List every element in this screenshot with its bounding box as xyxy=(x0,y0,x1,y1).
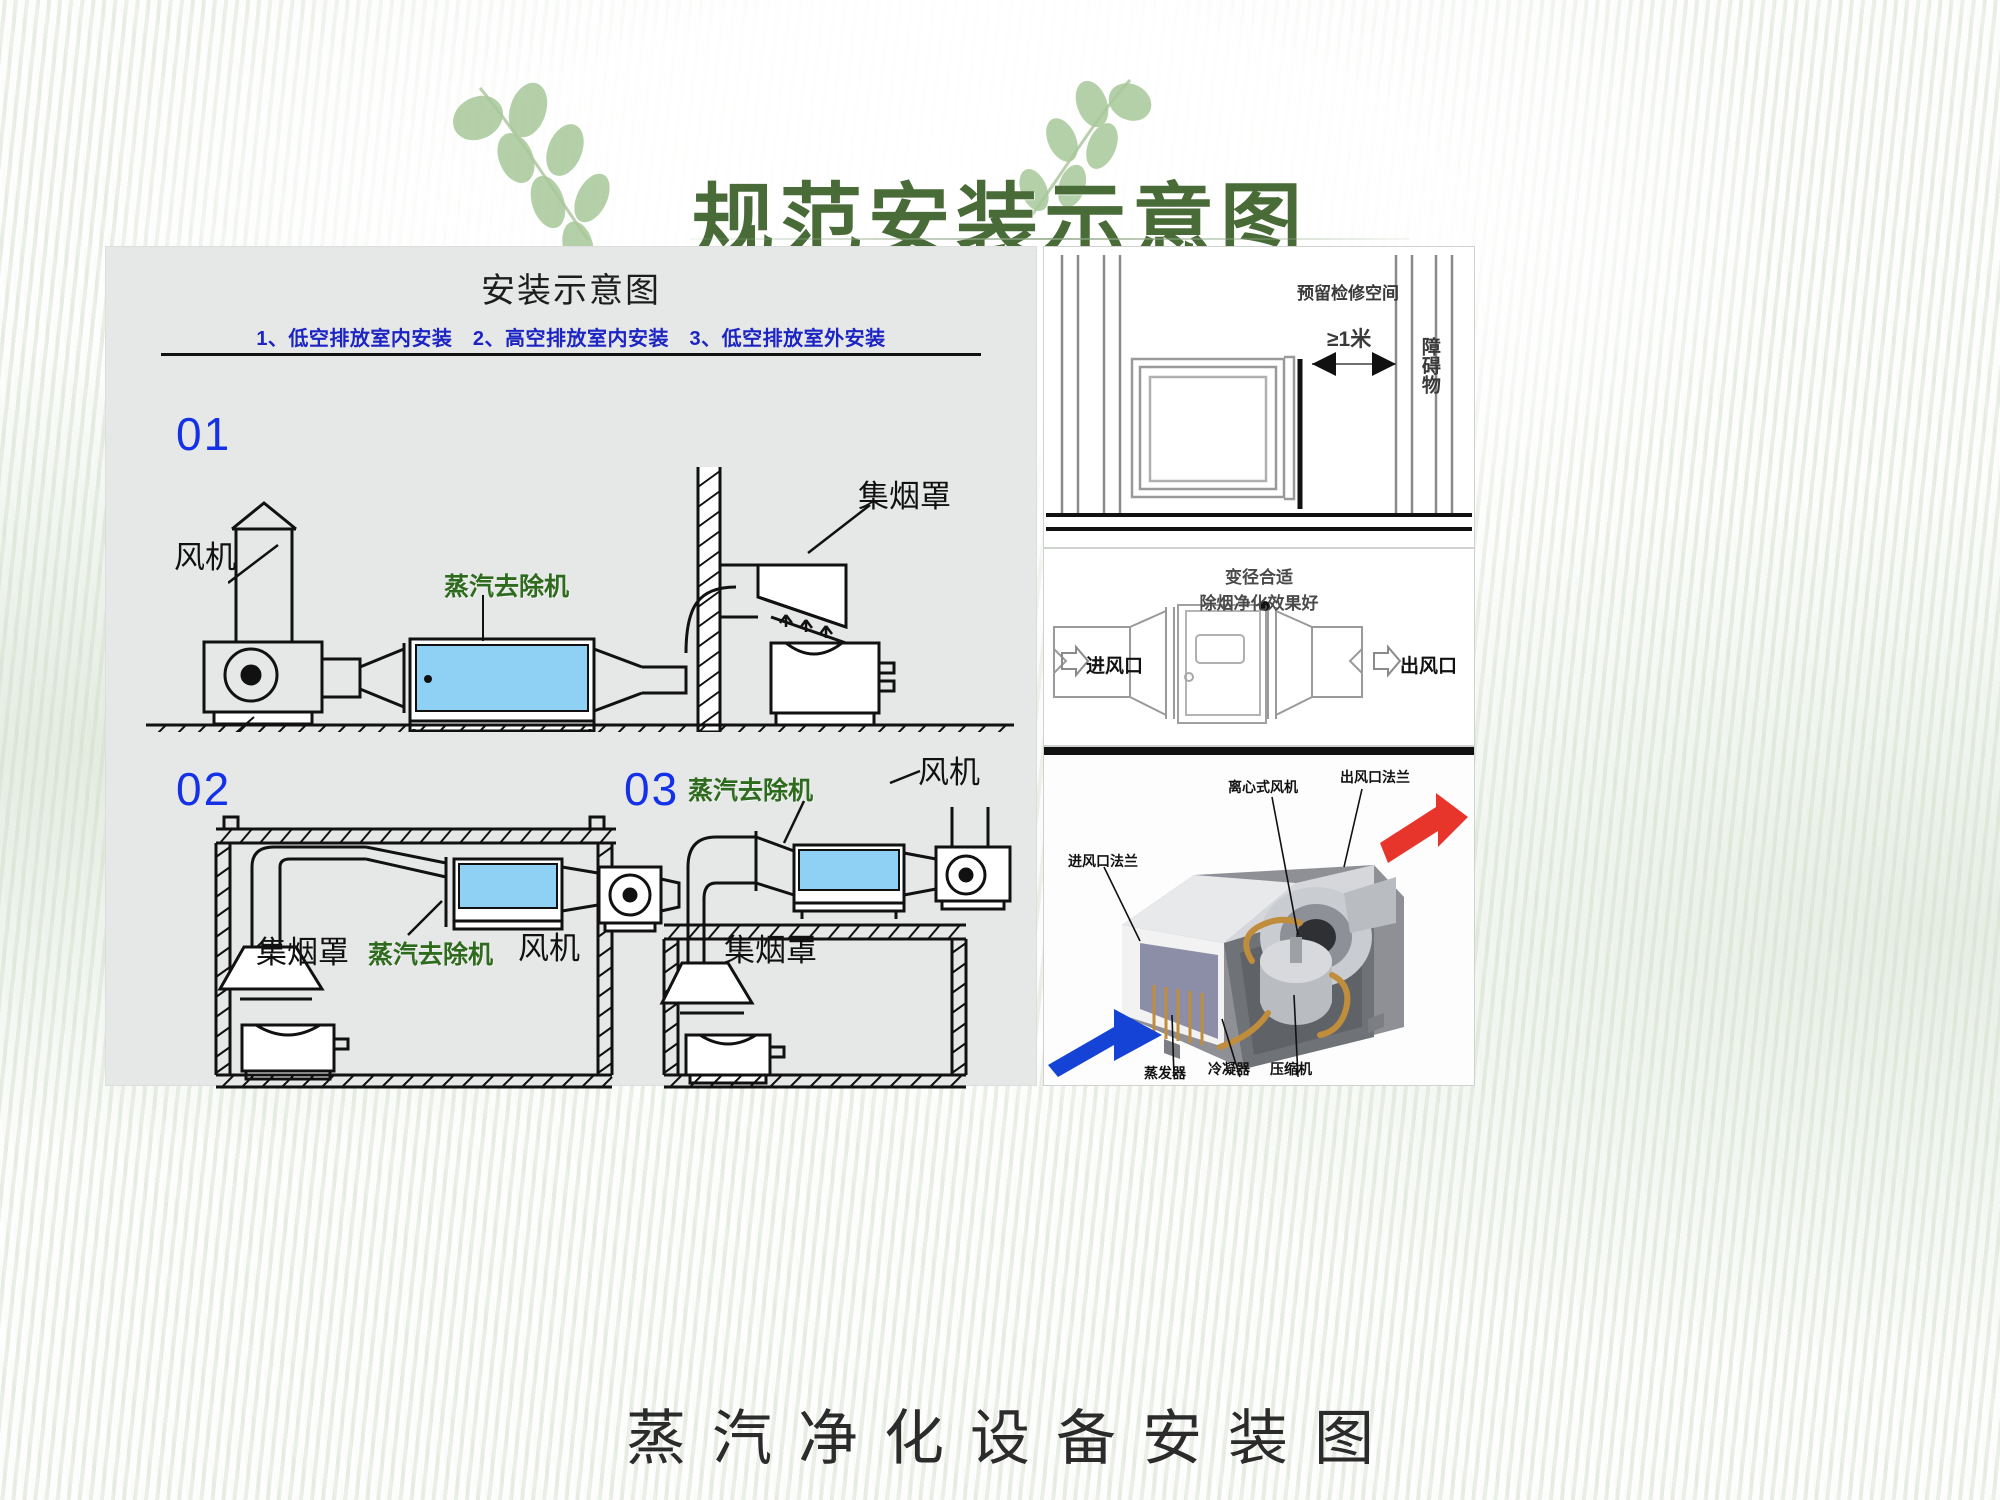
clearance-label-distance: ≥1米 xyxy=(1327,323,1371,353)
cutaway-photo-box: 进风口法兰 离心式风机 出风口法兰 压缩机 冷凝器 蒸发器 xyxy=(1043,746,1475,1086)
diagram-01-label-fan: 风机 xyxy=(174,532,236,577)
duct-note-line1: 变径合适 xyxy=(1044,563,1474,588)
photo-label-evaporator: 蒸发器 xyxy=(1144,1063,1186,1083)
photo-label-inlet-flange: 进风口法兰 xyxy=(1068,851,1138,871)
reference-panel: 预留检修空间 ≥1米 障碍物 xyxy=(1043,246,1475,1084)
diagram-01-leader-steam xyxy=(478,595,488,641)
duct-label-outlet: 出风口 xyxy=(1400,651,1457,678)
clearance-label-service-space: 预留检修空间 xyxy=(1297,279,1399,304)
diagram-03-label-fan: 风机 xyxy=(918,747,980,792)
clearance-diagram-box: 预留检修空间 ≥1米 障碍物 xyxy=(1043,246,1475,548)
diagram-02-label-fan: 风机 xyxy=(518,923,580,968)
installation-diagram-panel: 安装示意图 1、低空排放室内安装 2、高空排放室内安装 3、低空排放室外安装 0… xyxy=(105,246,1037,1086)
duct-note-line2: 除烟净化效果好 xyxy=(1044,589,1474,614)
diagram-02-label-steam-remover: 蒸汽去除机 xyxy=(368,935,493,971)
diagram-03-leader-fan xyxy=(888,757,924,787)
photo-label-condenser: 冷凝器 xyxy=(1208,1059,1250,1079)
diagram-03-leader-steam xyxy=(778,799,808,845)
footer-caption: 蒸汽净化设备安装图 xyxy=(0,1390,2000,1477)
panel-caption: 1、低空排放室内安装 2、高空排放室内安装 3、低空排放室外安装 xyxy=(106,322,1036,351)
cutaway-illustration xyxy=(1044,747,1474,1085)
photo-label-centrifugal-fan: 离心式风机 xyxy=(1228,777,1298,797)
diagram-number-01: 01 xyxy=(176,407,231,461)
photo-label-outlet-flange: 出风口法兰 xyxy=(1340,767,1410,787)
diagram-01-label-steam-remover: 蒸汽去除机 xyxy=(444,567,569,603)
diagram-02-leader-steam xyxy=(406,899,446,939)
duct-label-inlet: 进风口 xyxy=(1086,651,1143,678)
diagram-03-label-hood: 集烟罩 xyxy=(724,925,817,970)
diagram-01-leader-fan xyxy=(228,543,280,587)
duct-diagram-box: 变径合适 除烟净化效果好 进风口 出风口 xyxy=(1043,548,1475,746)
diagram-02-label-hood: 集烟罩 xyxy=(256,927,349,972)
caption-divider xyxy=(161,353,981,356)
photo-label-compressor: 压缩机 xyxy=(1270,1059,1312,1079)
clearance-drawing xyxy=(1044,247,1474,547)
clearance-label-obstacle: 障碍物 xyxy=(1418,337,1440,394)
panel-heading: 安装示意图 xyxy=(106,263,1036,312)
diagram-01-leader-hood xyxy=(806,505,876,557)
title-underline xyxy=(690,238,1410,240)
